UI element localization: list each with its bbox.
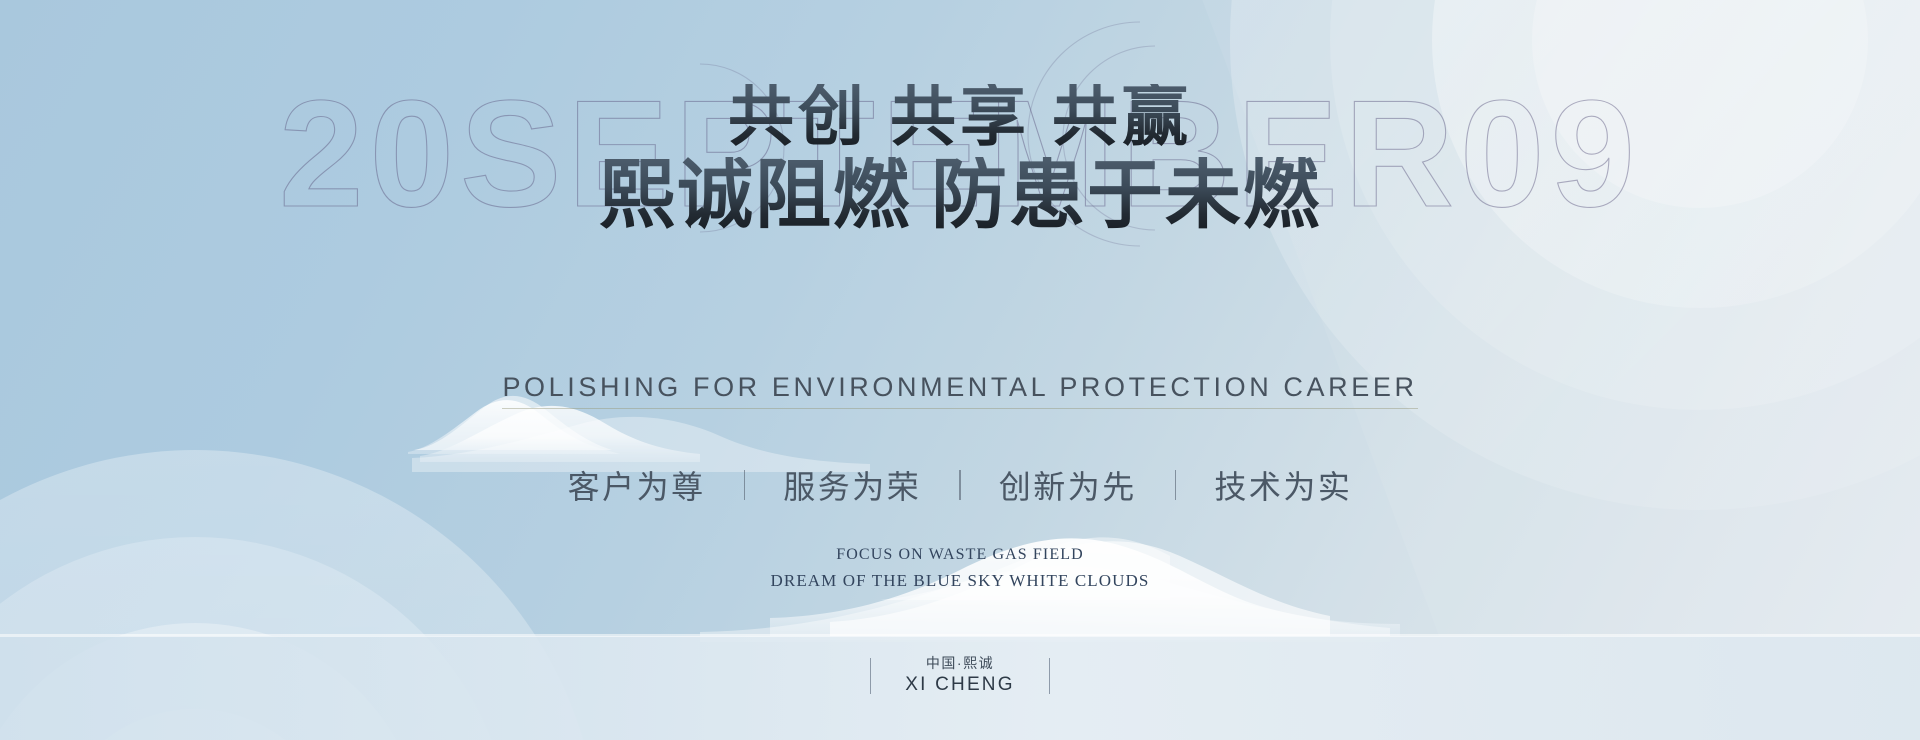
brand-divider-left	[870, 658, 872, 694]
value-divider	[744, 470, 746, 500]
brand-name-cn: 中国·熙诚	[905, 655, 1014, 673]
brand-text-block: 中国·熙诚XI CHENG	[905, 655, 1014, 696]
banner-stage: 20SEPTEMBER09 共创共享共赢 熙诚阻燃防患于未燃 POLISHING…	[0, 0, 1920, 740]
serif-tagline-2: DREAM OF THE BLUE SKY WHITE CLOUDS	[0, 568, 1920, 594]
headline-word-3: 共赢	[1052, 81, 1192, 154]
value-item-2: 服务为荣	[783, 462, 921, 508]
serif-tagline-block: FOCUS ON WASTE GAS FIELD DREAM OF THE BL…	[0, 543, 1920, 594]
serif-tagline-1: FOCUS ON WASTE GAS FIELD	[0, 543, 1920, 568]
headline-line-1: 共创共享共赢	[0, 84, 1920, 153]
value-item-1: 客户为尊	[568, 462, 706, 508]
value-divider	[959, 470, 961, 500]
headline-word-4: 熙诚阻燃	[599, 154, 911, 238]
values-row: 客户为尊服务为荣创新为先技术为实	[0, 462, 1920, 508]
headline-word-5: 防患于未燃	[931, 154, 1321, 238]
headline-word-2: 共享	[890, 81, 1030, 154]
brand-divider-right	[1049, 658, 1051, 694]
english-subtitle: POLISHING FOR ENVIRONMENTAL PROTECTION C…	[0, 372, 1920, 409]
headline-line-2: 熙诚阻燃防患于未燃	[0, 157, 1920, 236]
english-subtitle-text: POLISHING FOR ENVIRONMENTAL PROTECTION C…	[502, 372, 1417, 409]
brand-name-en: XI CHENG	[905, 673, 1014, 697]
headline-word-1: 共创	[728, 81, 868, 154]
value-divider	[1175, 470, 1177, 500]
value-item-3: 创新为先	[999, 462, 1137, 508]
value-item-4: 技术为实	[1214, 462, 1352, 508]
brand-footer: 中国·熙诚XI CHENG	[0, 655, 1920, 696]
headline-block: 共创共享共赢 熙诚阻燃防患于未燃	[0, 84, 1920, 236]
